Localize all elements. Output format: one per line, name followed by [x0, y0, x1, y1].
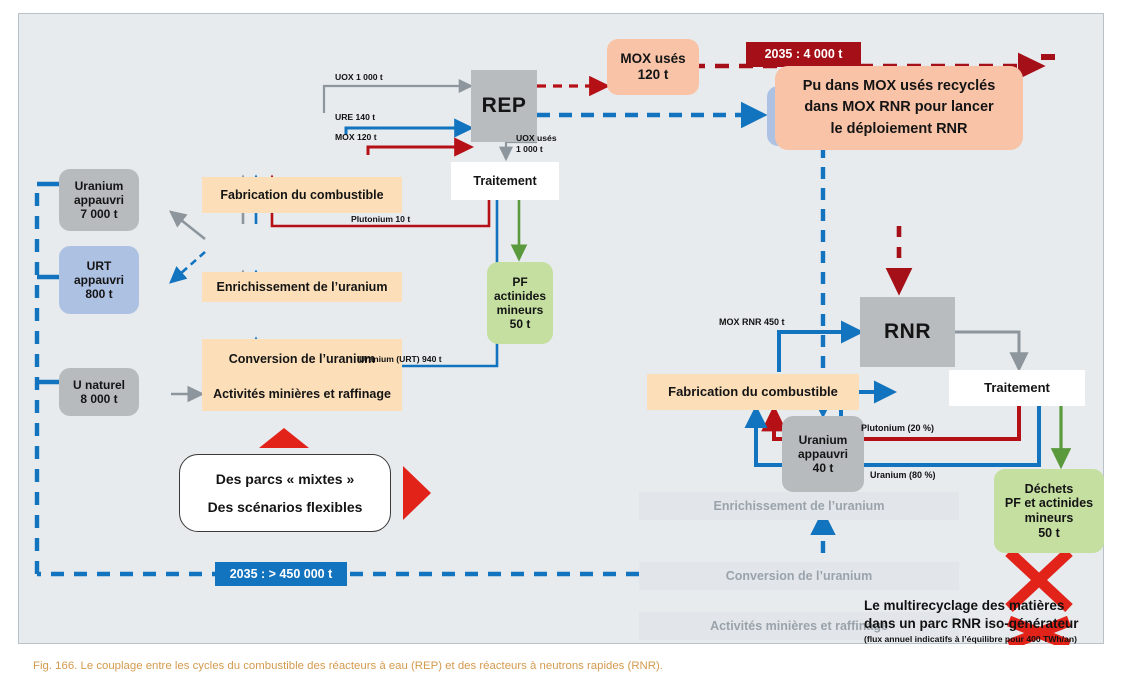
suppressed-label: Activités minières et raffinage	[710, 619, 888, 634]
figure-caption: Fig. 166. Le couplage entre les cycles d…	[33, 660, 663, 672]
label-plutonium-20: Plutonium (20 %)	[861, 423, 934, 434]
rnr-traitement-box[interactable]: Traitement	[949, 370, 1085, 406]
rnr-note: Le multirecyclage des matières dans un p…	[864, 597, 1104, 644]
rnr-fabrication-box-main[interactable]: Fabrication du combustible	[647, 374, 859, 410]
rnr-note-title: Le multirecyclage des matières dans un p…	[864, 597, 1104, 632]
rep-fabrication-label: Fabrication du combustible	[220, 188, 383, 203]
suppressed-label: Conversion de l’uranium	[726, 569, 873, 584]
badge-2035-4000t-box[interactable]: 2035 : 4 000 t	[746, 42, 861, 67]
store-label: Déchets PF et actinides mineurs 50 t	[1005, 482, 1093, 541]
mixed-park-callout[interactable]: Des parcs « mixtes » Des scénarios flexi…	[179, 454, 391, 532]
label-uox-1000: UOX 1 000 t	[335, 72, 383, 83]
rnr-reactor-box[interactable]: RNR	[860, 297, 955, 367]
rep-enrichissement-box[interactable]: Enrichissement de l’uranium	[202, 272, 402, 302]
label-mox-120: MOX 120 t	[335, 132, 377, 143]
store-mox-uses-120[interactable]: MOX usés 120 t	[607, 39, 699, 95]
store-label: MOX usés 120 t	[620, 51, 685, 83]
rep-traitement-label: Traitement	[473, 174, 536, 189]
callout-text: Pu dans MOX usés recyclés dans MOX RNR p…	[803, 76, 996, 139]
store-pf-actinides-50[interactable]: PF actinides mineurs 50 t	[487, 262, 553, 344]
rep-reactor-box[interactable]: REP	[471, 70, 537, 142]
mixed-park-line1: Des parcs « mixtes »	[216, 471, 355, 488]
suppressed-enrichissement: Enrichissement de l’uranium	[639, 492, 959, 520]
label-plutonium-10: Plutonium 10 t	[351, 214, 410, 225]
badge-label: 2035 : 4 000 t	[765, 47, 843, 62]
label-uox-uses-1000: UOX usés 1 000 t	[516, 133, 557, 154]
rep-conversion-label: Conversion de l’uranium	[229, 352, 376, 367]
store-label: PF actinides mineurs 50 t	[494, 275, 546, 332]
red-triangle-up	[259, 428, 309, 448]
store-dechets-pf-actinides-50[interactable]: Déchets PF et actinides mineurs 50 t	[994, 469, 1104, 553]
label-uranium-80: Uranium (80 %)	[870, 470, 936, 481]
store-label: U naturel 8 000 t	[73, 378, 125, 406]
badge-label: 2035 : > 450 000 t	[230, 567, 333, 582]
label-ure-140: URE 140 t	[335, 112, 375, 123]
diagram-canvas: REP Traitement Fabrication du combustibl…	[18, 13, 1104, 644]
rnr-reactor-label: RNR	[884, 320, 931, 345]
rep-fabrication-box[interactable]: Fabrication du combustible	[202, 177, 402, 213]
figure-root: REP Traitement Fabrication du combustibl…	[0, 0, 1124, 694]
store-uranium-appauvri-40[interactable]: Uranium appauvri 40 t	[782, 416, 864, 492]
store-uranium-appauvri-7000[interactable]: Uranium appauvri 7 000 t	[59, 169, 139, 231]
label-mox-rnr-450: MOX RNR 450 t	[719, 317, 785, 328]
label-uranium-urt-940: Uranium (URT) 940 t	[359, 354, 442, 365]
badge-2035-mox[interactable]	[1041, 54, 1055, 60]
rnr-traitement-label: Traitement	[984, 380, 1050, 395]
store-label: URT appauvri 800 t	[74, 259, 124, 301]
badge-2035-450000t[interactable]: 2035 : > 450 000 t	[215, 562, 347, 586]
callout-pu-mox[interactable]: Pu dans MOX usés recyclés dans MOX RNR p…	[775, 66, 1023, 150]
store-label: Uranium appauvri 40 t	[798, 433, 848, 475]
suppressed-label: Enrichissement de l’uranium	[714, 499, 885, 514]
red-triangle-right	[403, 466, 431, 520]
store-urt-appauvri-800[interactable]: URT appauvri 800 t	[59, 246, 139, 314]
suppressed-conversion: Conversion de l’uranium	[639, 562, 959, 590]
store-u-naturel-8000[interactable]: U naturel 8 000 t	[59, 368, 139, 416]
mixed-park-line2: Des scénarios flexibles	[208, 499, 363, 516]
rnr-note-subtitle: (flux annuel indicatifs à l’équilibre po…	[864, 634, 1104, 644]
rep-minier-label: Activités minières et raffinage	[213, 387, 391, 402]
rep-traitement-box[interactable]: Traitement	[451, 162, 559, 200]
rep-minier-box[interactable]: Activités minières et raffinage	[202, 377, 402, 411]
rep-reactor-label: REP	[482, 94, 527, 119]
rep-enrichissement-label: Enrichissement de l’uranium	[217, 280, 388, 295]
rnr-fabrication-label: Fabrication du combustible	[668, 384, 838, 399]
store-label: Uranium appauvri 7 000 t	[74, 179, 124, 221]
